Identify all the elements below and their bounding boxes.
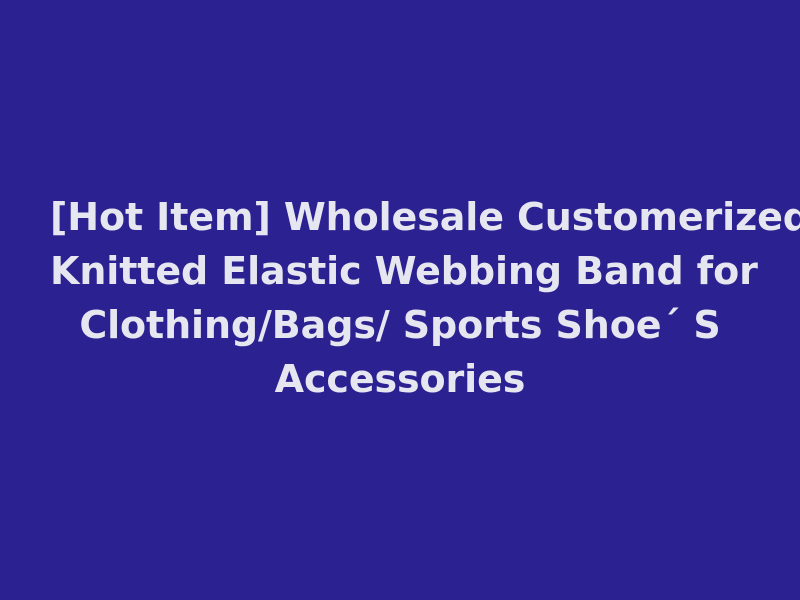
page-title-line-4: Accessories bbox=[50, 352, 750, 406]
page-title-line-2: Knitted Elastic Webbing Band for bbox=[50, 244, 750, 298]
page-title-line-3: Clothing/Bags/ Sports Shoe´ S bbox=[50, 298, 750, 352]
product-title-card: [Hot Item] Wholesale Customerized Knitte… bbox=[0, 0, 800, 600]
page-title: [Hot Item] Wholesale Customerized Knitte… bbox=[50, 190, 750, 406]
page-title-line-1: [Hot Item] Wholesale Customerized bbox=[50, 190, 750, 244]
